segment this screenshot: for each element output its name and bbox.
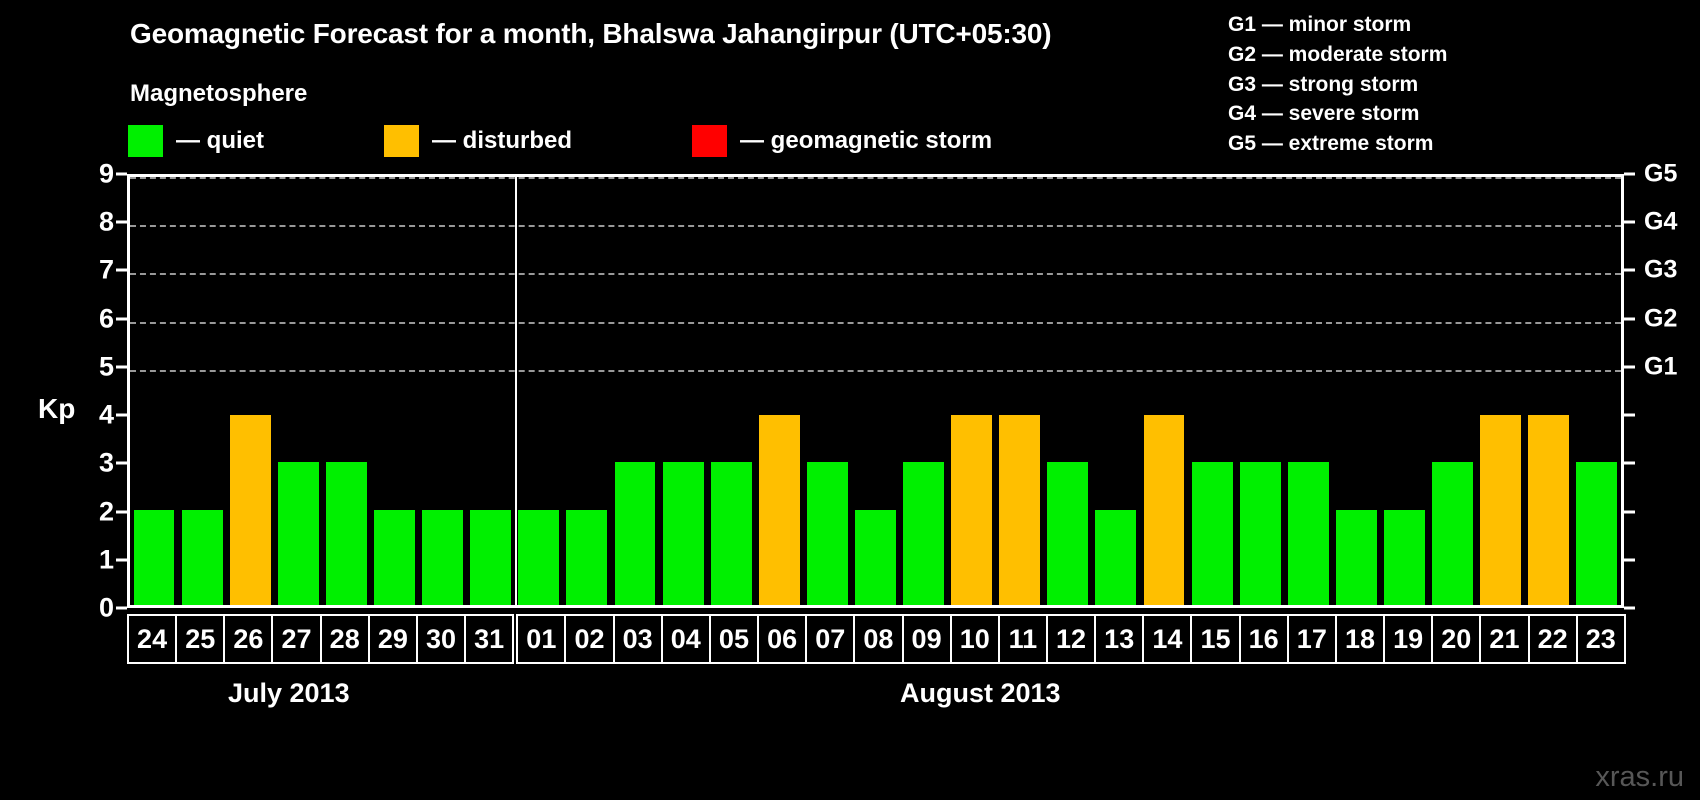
bar-25-kp-2[interactable] bbox=[182, 510, 223, 605]
bar-cell[interactable] bbox=[274, 177, 322, 605]
day-label-05[interactable]: 05 bbox=[709, 614, 759, 664]
bar-cell[interactable] bbox=[803, 177, 851, 605]
bar-cell[interactable] bbox=[1092, 177, 1140, 605]
magnetosphere-legend: — quiet— disturbed— geomagnetic storm bbox=[128, 125, 992, 157]
day-label-04[interactable]: 04 bbox=[661, 614, 711, 664]
y-tick-mark-6 bbox=[116, 317, 127, 320]
month-divider bbox=[515, 177, 517, 605]
bar-cell[interactable] bbox=[900, 177, 948, 605]
storm-scale-legend: G1 — minor storm G2 — moderate storm G3 … bbox=[1228, 10, 1447, 159]
bar-07-kp-3[interactable] bbox=[807, 462, 848, 605]
g-tick-mark-G4 bbox=[1624, 221, 1635, 224]
g-axis-minor-tick-4 bbox=[1624, 414, 1635, 417]
bar-cell[interactable] bbox=[1140, 177, 1188, 605]
bar-cell[interactable] bbox=[1236, 177, 1284, 605]
bar-02-kp-2[interactable] bbox=[566, 510, 607, 605]
legend-item-quiet: — quiet bbox=[128, 125, 264, 157]
day-label-03[interactable]: 03 bbox=[613, 614, 663, 664]
y-tick-label-7: 7 bbox=[99, 255, 114, 286]
bar-11-kp-4[interactable] bbox=[999, 415, 1040, 605]
x-axis-day-labels: 2425262728293031010203040506070809101112… bbox=[127, 614, 1624, 664]
bar-31-kp-2[interactable] bbox=[470, 510, 511, 605]
g-axis-minor-tick-0 bbox=[1624, 607, 1635, 610]
g-tick-label-G1: G1 bbox=[1644, 352, 1677, 381]
storm-scale-g4: G4 — severe storm bbox=[1228, 99, 1447, 129]
y-tick-mark-8 bbox=[116, 221, 127, 224]
bar-29-kp-2[interactable] bbox=[374, 510, 415, 605]
y-tick-label-4: 4 bbox=[99, 400, 114, 431]
bar-27-kp-3[interactable] bbox=[278, 462, 319, 605]
legend-swatch-disturbed-icon bbox=[384, 125, 419, 157]
bar-09-kp-3[interactable] bbox=[903, 462, 944, 605]
bar-cell[interactable] bbox=[948, 177, 996, 605]
y-tick-mark-9 bbox=[116, 173, 127, 176]
bar-cell[interactable] bbox=[370, 177, 418, 605]
day-label-27[interactable]: 27 bbox=[271, 614, 321, 664]
g-tick-mark-G3 bbox=[1624, 269, 1635, 272]
y-tick-label-6: 6 bbox=[99, 303, 114, 334]
g-tick-label-G3: G3 bbox=[1644, 256, 1677, 285]
bar-cell[interactable] bbox=[130, 177, 178, 605]
day-label-23[interactable]: 23 bbox=[1576, 614, 1626, 664]
legend-swatch-storm-icon bbox=[692, 125, 727, 157]
day-label-18[interactable]: 18 bbox=[1335, 614, 1385, 664]
day-label-10[interactable]: 10 bbox=[950, 614, 1000, 664]
day-label-14[interactable]: 14 bbox=[1142, 614, 1192, 664]
watermark: xras.ru bbox=[1595, 761, 1684, 794]
bar-21-kp-4[interactable] bbox=[1480, 415, 1521, 605]
day-label-29[interactable]: 29 bbox=[368, 614, 418, 664]
day-label-08[interactable]: 08 bbox=[853, 614, 903, 664]
bar-cell[interactable] bbox=[996, 177, 1044, 605]
bar-cell[interactable] bbox=[1188, 177, 1236, 605]
y-tick-mark-5 bbox=[116, 365, 127, 368]
plot-area bbox=[127, 174, 1624, 608]
month-caption-august: August 2013 bbox=[900, 678, 1061, 709]
y-tick-mark-1 bbox=[116, 558, 127, 561]
bar-cell[interactable] bbox=[1380, 177, 1428, 605]
magnetosphere-label: Magnetosphere bbox=[130, 80, 307, 108]
bar-series bbox=[130, 177, 1621, 605]
y-tick-label-8: 8 bbox=[99, 207, 114, 238]
g-tick-mark-G1 bbox=[1624, 365, 1635, 368]
bar-cell[interactable] bbox=[1332, 177, 1380, 605]
page-title: Geomagnetic Forecast for a month, Bhalsw… bbox=[130, 18, 1051, 50]
legend-item-storm: — geomagnetic storm bbox=[692, 125, 992, 157]
bar-17-kp-3[interactable] bbox=[1288, 462, 1329, 605]
day-label-11[interactable]: 11 bbox=[998, 614, 1048, 664]
day-label-24[interactable]: 24 bbox=[127, 614, 177, 664]
month-caption-july: July 2013 bbox=[228, 678, 350, 709]
day-label-15[interactable]: 15 bbox=[1190, 614, 1240, 664]
g-tick-label-G2: G2 bbox=[1644, 304, 1677, 333]
bar-22-kp-4[interactable] bbox=[1528, 415, 1569, 605]
day-label-25[interactable]: 25 bbox=[175, 614, 225, 664]
bar-19-kp-2[interactable] bbox=[1384, 510, 1425, 605]
g-axis-minor-tick-1 bbox=[1624, 558, 1635, 561]
y-tick-mark-3 bbox=[116, 462, 127, 465]
y-tick-mark-2 bbox=[116, 510, 127, 513]
bar-cell[interactable] bbox=[851, 177, 899, 605]
bar-cell[interactable] bbox=[1284, 177, 1332, 605]
bar-cell[interactable] bbox=[755, 177, 803, 605]
legend-item-disturbed: — disturbed bbox=[384, 125, 572, 157]
y-tick-label-9: 9 bbox=[99, 159, 114, 190]
bar-14-kp-4[interactable] bbox=[1144, 415, 1185, 605]
bar-cell[interactable] bbox=[419, 177, 467, 605]
y-tick-label-0: 0 bbox=[99, 593, 114, 624]
day-label-20[interactable]: 20 bbox=[1431, 614, 1481, 664]
y-tick-label-2: 2 bbox=[99, 496, 114, 527]
day-label-21[interactable]: 21 bbox=[1479, 614, 1529, 664]
y-tick-mark-4 bbox=[116, 414, 127, 417]
g-tick-label-G4: G4 bbox=[1644, 208, 1677, 237]
bar-08-kp-2[interactable] bbox=[855, 510, 896, 605]
bar-cell[interactable] bbox=[1477, 177, 1525, 605]
day-label-28[interactable]: 28 bbox=[320, 614, 370, 664]
bar-cell[interactable] bbox=[322, 177, 370, 605]
storm-scale-g2: G2 — moderate storm bbox=[1228, 40, 1447, 70]
bar-cell[interactable] bbox=[563, 177, 611, 605]
legend-swatch-quiet-icon bbox=[128, 125, 163, 157]
day-label-06[interactable]: 06 bbox=[757, 614, 807, 664]
day-label-09[interactable]: 09 bbox=[902, 614, 952, 664]
storm-scale-g3: G3 — strong storm bbox=[1228, 70, 1447, 100]
bar-06-kp-4[interactable] bbox=[759, 415, 800, 605]
day-label-17[interactable]: 17 bbox=[1287, 614, 1337, 664]
bar-cell[interactable] bbox=[1044, 177, 1092, 605]
legend-label-quiet: — quiet bbox=[176, 127, 264, 155]
day-label-02[interactable]: 02 bbox=[564, 614, 614, 664]
day-label-01[interactable]: 01 bbox=[516, 614, 566, 664]
bar-cell[interactable] bbox=[1573, 177, 1621, 605]
bar-01-kp-2[interactable] bbox=[518, 510, 559, 605]
bar-10-kp-4[interactable] bbox=[951, 415, 992, 605]
bar-04-kp-3[interactable] bbox=[663, 462, 704, 605]
bar-23-kp-3[interactable] bbox=[1576, 462, 1617, 605]
y-axis-title: Kp bbox=[38, 393, 75, 425]
bar-24-kp-2[interactable] bbox=[134, 510, 175, 605]
bar-20-kp-3[interactable] bbox=[1432, 462, 1473, 605]
y-tick-mark-0 bbox=[116, 607, 127, 610]
day-label-19[interactable]: 19 bbox=[1383, 614, 1433, 664]
g-tick-mark-G2 bbox=[1624, 317, 1635, 320]
day-label-30[interactable]: 30 bbox=[416, 614, 466, 664]
storm-scale-g5: G5 — extreme storm bbox=[1228, 129, 1447, 159]
bar-cell[interactable] bbox=[659, 177, 707, 605]
g-axis-minor-tick-3 bbox=[1624, 462, 1635, 465]
y-tick-mark-7 bbox=[116, 269, 127, 272]
day-label-22[interactable]: 22 bbox=[1528, 614, 1578, 664]
bar-16-kp-3[interactable] bbox=[1240, 462, 1281, 605]
bar-03-kp-3[interactable] bbox=[615, 462, 656, 605]
bar-26-kp-4[interactable] bbox=[230, 415, 271, 605]
g-tick-mark-G5 bbox=[1624, 173, 1635, 176]
storm-scale-g1: G1 — minor storm bbox=[1228, 10, 1447, 40]
bar-cell[interactable] bbox=[178, 177, 226, 605]
y-tick-label-1: 1 bbox=[99, 544, 114, 575]
legend-label-storm: — geomagnetic storm bbox=[740, 127, 992, 155]
bar-15-kp-3[interactable] bbox=[1192, 462, 1233, 605]
bar-cell[interactable] bbox=[1429, 177, 1477, 605]
g-axis-minor-tick-2 bbox=[1624, 510, 1635, 513]
day-label-07[interactable]: 07 bbox=[805, 614, 855, 664]
day-label-13[interactable]: 13 bbox=[1094, 614, 1144, 664]
day-label-26[interactable]: 26 bbox=[223, 614, 273, 664]
y-tick-label-5: 5 bbox=[99, 351, 114, 382]
bar-cell[interactable] bbox=[226, 177, 274, 605]
bar-cell[interactable] bbox=[611, 177, 659, 605]
day-label-16[interactable]: 16 bbox=[1239, 614, 1289, 664]
bar-13-kp-2[interactable] bbox=[1095, 510, 1136, 605]
bar-cell[interactable] bbox=[707, 177, 755, 605]
bar-cell[interactable] bbox=[467, 177, 515, 605]
bar-12-kp-3[interactable] bbox=[1047, 462, 1088, 605]
legend-label-disturbed: — disturbed bbox=[432, 127, 572, 155]
bar-30-kp-2[interactable] bbox=[422, 510, 463, 605]
bar-cell[interactable] bbox=[1525, 177, 1573, 605]
day-label-31[interactable]: 31 bbox=[464, 614, 514, 664]
bar-28-kp-3[interactable] bbox=[326, 462, 367, 605]
day-label-12[interactable]: 12 bbox=[1046, 614, 1096, 664]
bar-18-kp-2[interactable] bbox=[1336, 510, 1377, 605]
bar-cell[interactable] bbox=[515, 177, 563, 605]
y-tick-label-3: 3 bbox=[99, 448, 114, 479]
bar-05-kp-3[interactable] bbox=[711, 462, 752, 605]
g-tick-label-G5: G5 bbox=[1644, 160, 1677, 189]
chart-canvas: Geomagnetic Forecast for a month, Bhalsw… bbox=[0, 0, 1700, 800]
